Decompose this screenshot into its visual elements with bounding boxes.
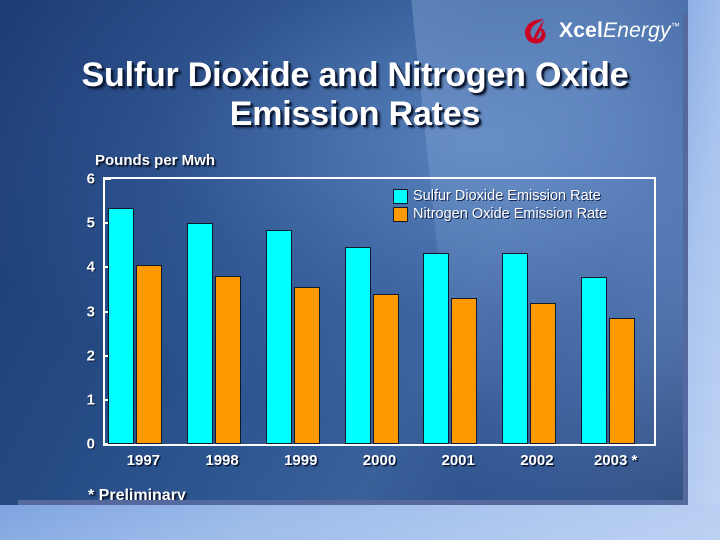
xcel-energy-logo: XcelEnergy™ xyxy=(519,11,699,51)
legend-label: Sulfur Dioxide Emission Rate xyxy=(413,188,601,204)
y-axis-tick-label: 2 xyxy=(61,347,95,364)
bar-chart: Pounds per Mwh 6543210 19971998199920002… xyxy=(0,146,700,496)
y-axis-tick-label: 5 xyxy=(61,215,95,232)
bar-nitrogen-oxide-1998 xyxy=(215,276,241,444)
bar-sulfur-dioxide-1998 xyxy=(187,223,213,444)
y-axis-tick-label: 3 xyxy=(61,303,95,320)
bar-sulfur-dioxide-2003 xyxy=(581,277,607,444)
y-axis-title: Pounds per Mwh xyxy=(95,152,215,169)
legend-item: Nitrogen Oxide Emission Rate xyxy=(393,206,607,222)
page-title-line-2: Emission Rates xyxy=(40,95,670,134)
slide-frame-right xyxy=(688,0,720,540)
x-axis-tick-label: 1999 xyxy=(261,452,340,469)
y-axis-tick-label: 6 xyxy=(61,171,95,188)
bar-sulfur-dioxide-2002 xyxy=(502,253,528,444)
y-axis-tick-label: 4 xyxy=(61,259,95,276)
x-axis-line xyxy=(103,444,656,446)
chart-legend: Sulfur Dioxide Emission RateNitrogen Oxi… xyxy=(393,188,607,224)
y-axis-tick-label: 0 xyxy=(61,436,95,453)
bar-nitrogen-oxide-1997 xyxy=(136,265,162,444)
y-axis-tick-label: 1 xyxy=(61,391,95,408)
bar-nitrogen-oxide-1999 xyxy=(294,287,320,444)
x-axis-tick-label: 2002 xyxy=(498,452,577,469)
x-axis-tick-label: 1998 xyxy=(183,452,262,469)
bar-nitrogen-oxide-2000 xyxy=(373,294,399,444)
x-axis-tick-label: 2001 xyxy=(419,452,498,469)
logo-name-italic: Energy xyxy=(603,19,671,42)
bar-sulfur-dioxide-1997 xyxy=(108,208,134,444)
bar-sulfur-dioxide-2000 xyxy=(345,247,371,444)
bar-sulfur-dioxide-2001 xyxy=(423,253,449,444)
bar-nitrogen-oxide-2001 xyxy=(451,298,477,444)
x-axis-tick-label: 1997 xyxy=(104,452,183,469)
legend-swatch-sulfur-dioxide xyxy=(393,189,408,204)
logo-trademark: ™ xyxy=(671,21,680,31)
page-title-line-1: Sulfur Dioxide and Nitrogen Oxide xyxy=(40,56,670,95)
logo-name-bold: Xcel xyxy=(559,19,603,42)
x-axis-tick-label: 2000 xyxy=(340,452,419,469)
legend-label: Nitrogen Oxide Emission Rate xyxy=(413,206,607,222)
logo-wordmark: XcelEnergy™ xyxy=(559,19,680,43)
bar-nitrogen-oxide-2002 xyxy=(530,303,556,444)
bar-sulfur-dioxide-1999 xyxy=(266,230,292,444)
xcel-swirl-icon xyxy=(519,14,553,48)
x-axis-tick-label: 2003 * xyxy=(576,452,655,469)
page-title: Sulfur Dioxide and Nitrogen Oxide Emissi… xyxy=(40,56,670,134)
presentation-slide: XcelEnergy™ Sulfur Dioxide and Nitrogen … xyxy=(0,0,720,540)
legend-swatch-nitrogen-oxide xyxy=(393,207,408,222)
slide-frame-bottom xyxy=(0,505,720,540)
y-axis-tick-labels: 6543210 xyxy=(55,146,95,446)
bar-nitrogen-oxide-2003 xyxy=(609,318,635,444)
legend-item: Sulfur Dioxide Emission Rate xyxy=(393,188,607,204)
